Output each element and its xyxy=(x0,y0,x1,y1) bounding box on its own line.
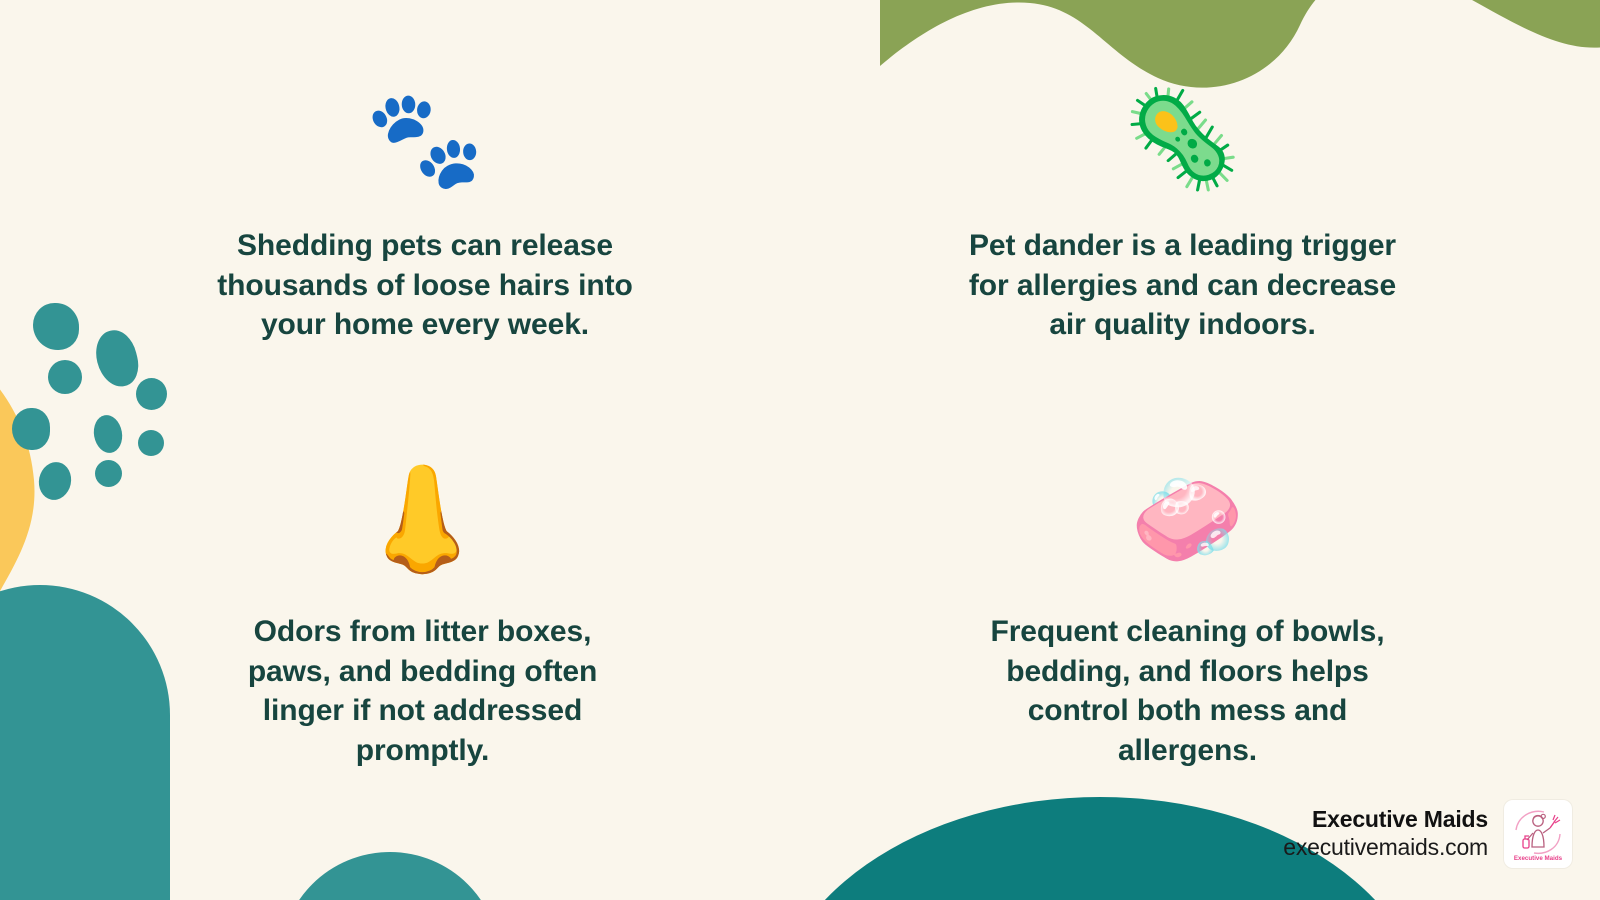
maid-figure-logo-icon: Executive Maids xyxy=(1508,804,1568,864)
logo-caption: Executive Maids xyxy=(1514,855,1563,862)
fact-card-odors: 👃 Odors from litter boxes, paws, and bed… xyxy=(0,450,800,900)
fact-text: Odors from litter boxes, paws, and beddi… xyxy=(215,612,630,770)
fact-text: Pet dander is a leading trigger for alle… xyxy=(960,226,1405,345)
fact-card-shedding: 🐾 Shedding pets can release thousands of… xyxy=(0,0,800,450)
brand-name: Executive Maids xyxy=(1283,805,1488,834)
branding-block[interactable]: Executive Maids executivemaids.com xyxy=(1283,800,1572,868)
fact-card-dander: 🦠 Pet dander is a leading trigger for al… xyxy=(800,0,1600,450)
soap-icon: 🧼 xyxy=(1130,468,1245,572)
brand-url[interactable]: executivemaids.com xyxy=(1283,833,1488,863)
fact-text: Frequent cleaning of bowls, bedding, and… xyxy=(965,612,1410,770)
brand-logo[interactable]: Executive Maids xyxy=(1504,800,1572,868)
microbe-icon: 🦠 xyxy=(1123,88,1243,192)
nose-icon: 👃 xyxy=(358,468,488,572)
fact-text: Shedding pets can release thousands of l… xyxy=(200,226,650,345)
infographic-canvas: 🐾 Shedding pets can release thousands of… xyxy=(0,0,1600,900)
paw-prints-icon: 🐾 xyxy=(365,88,485,192)
branding-text: Executive Maids executivemaids.com xyxy=(1283,805,1488,864)
facts-grid: 🐾 Shedding pets can release thousands of… xyxy=(0,0,1600,900)
